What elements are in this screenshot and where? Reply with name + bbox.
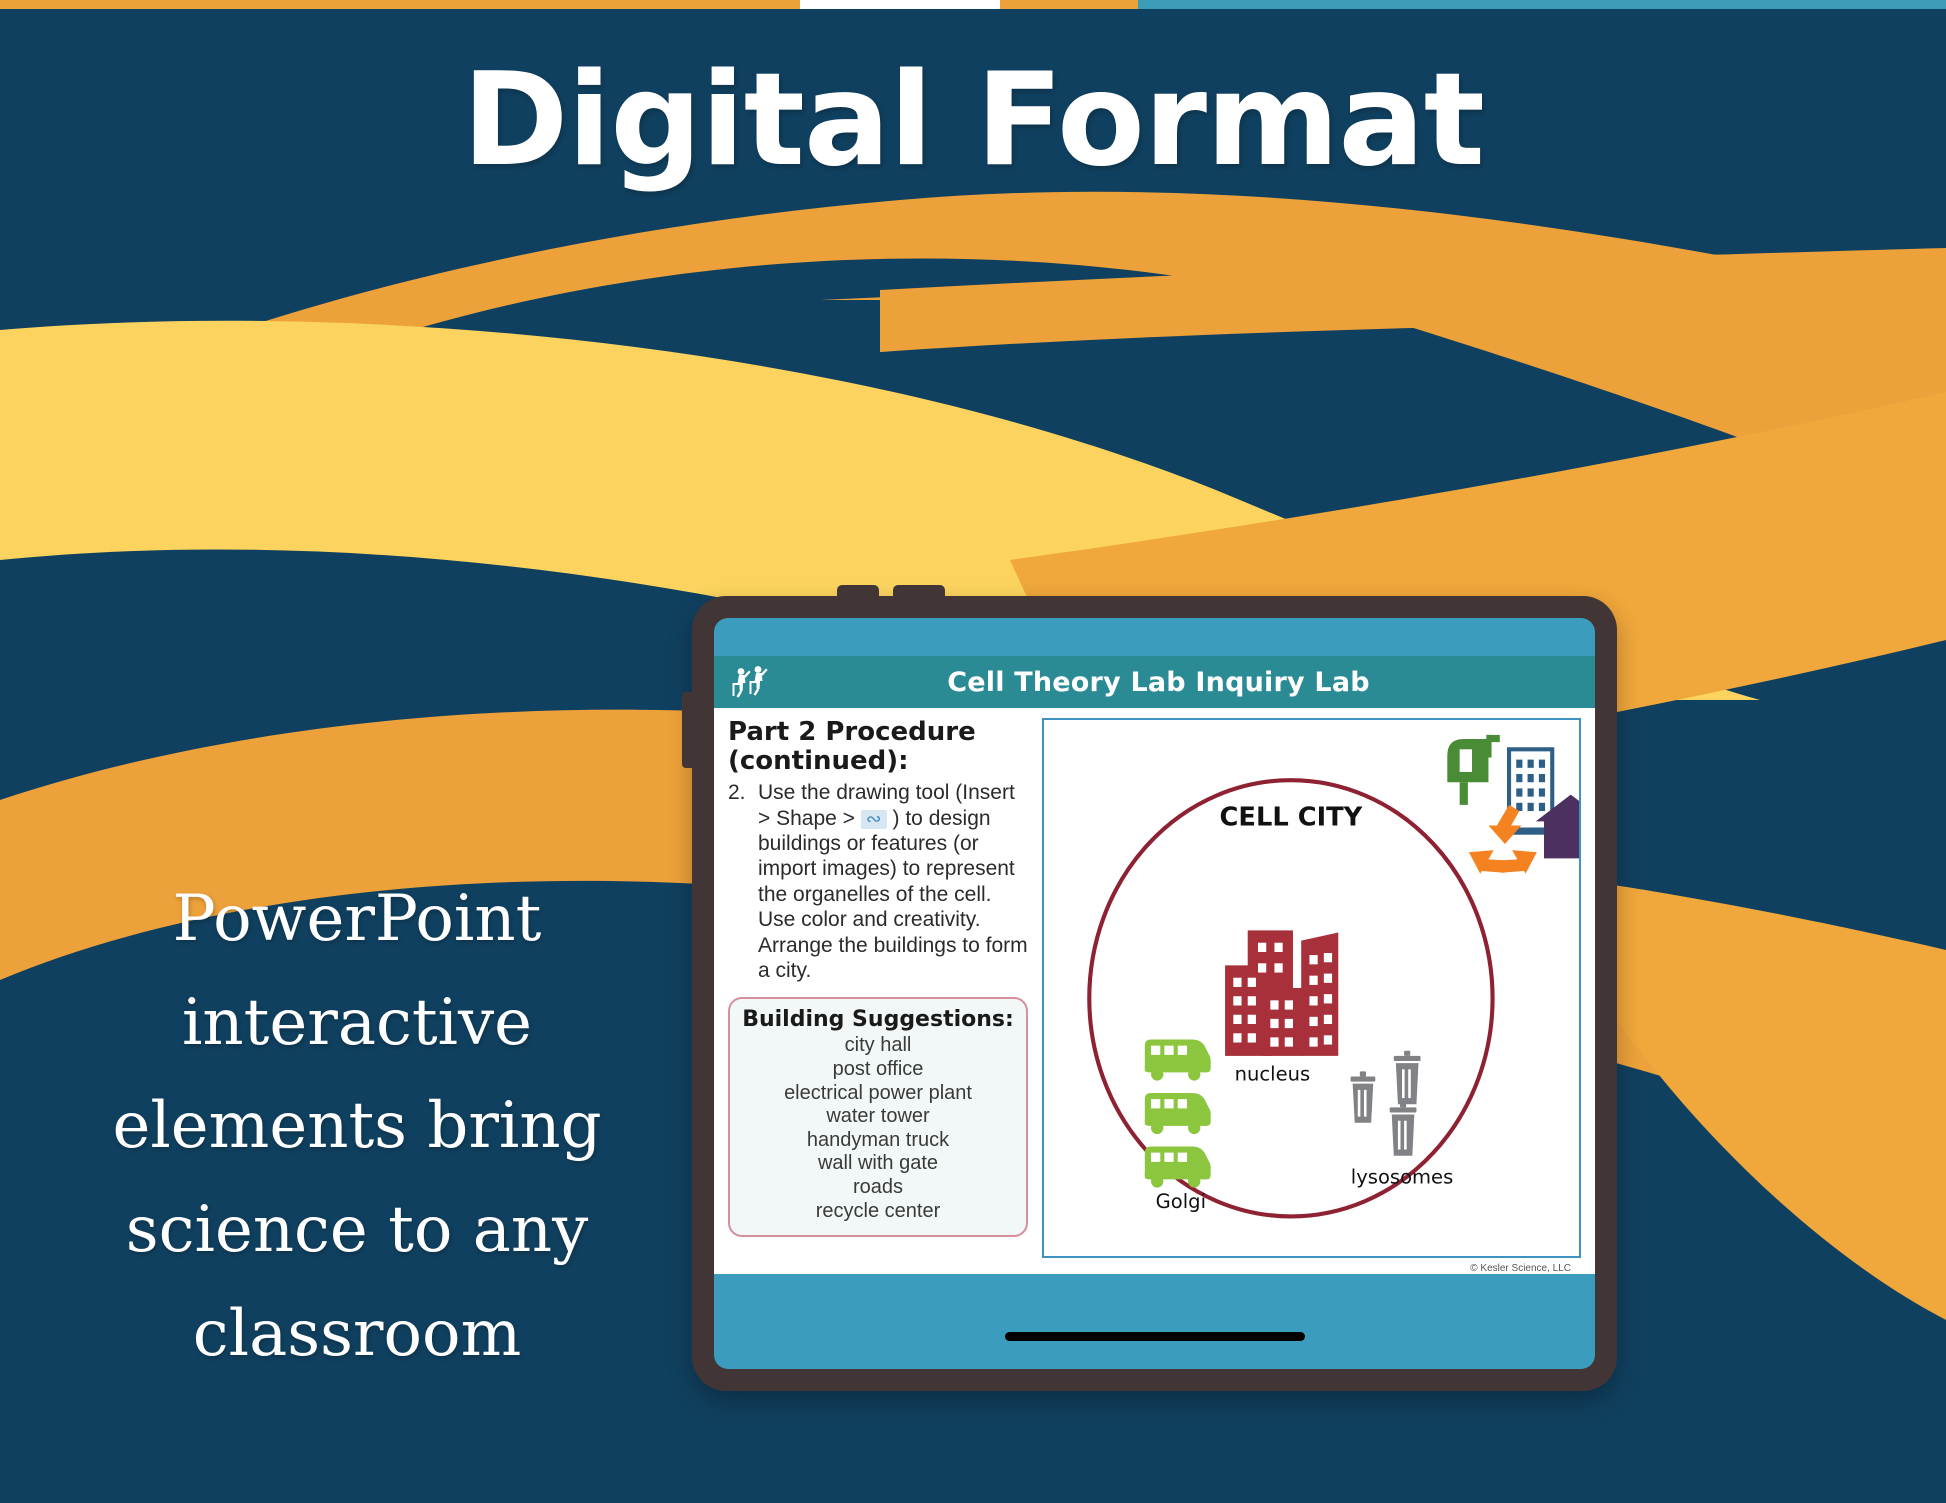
nucleus-label: nucleus — [1235, 1063, 1311, 1086]
tablet-top-buttons — [837, 585, 945, 599]
list-item: post office — [740, 1058, 1016, 1082]
cell-city-canvas: CELL CITY — [1044, 720, 1579, 1256]
lysosomes-label: lysosomes — [1351, 1165, 1453, 1188]
top-accent-strip — [0, 0, 1946, 9]
building-suggestions-title: Building Suggestions: — [740, 1007, 1016, 1032]
promo-caption: PowerPoint interactive elements bring sc… — [42, 868, 672, 1386]
list-item: roads — [740, 1176, 1016, 1200]
tablet-device: Cell Theory Lab Inquiry Lab Part 2 Proce… — [692, 596, 1617, 1391]
strip-segment-orange-left — [0, 0, 800, 9]
presentation-slide: Cell Theory Lab Inquiry Lab Part 2 Proce… — [714, 656, 1595, 1274]
screen-top-padding — [714, 618, 1595, 656]
page-title: Digital Format — [0, 46, 1946, 195]
strip-segment-teal — [1138, 0, 1946, 9]
list-item: water tower — [740, 1105, 1016, 1129]
bus-stack-icon — [1145, 1039, 1211, 1187]
tablet-screen: Cell Theory Lab Inquiry Lab Part 2 Proce… — [714, 618, 1595, 1369]
cell-city-diagram: CELL CITY — [1042, 718, 1581, 1258]
strip-segment-orange-right — [1000, 0, 1138, 9]
list-item: electrical power plant — [740, 1082, 1016, 1106]
procedure-text-after-chip: ) to design buildings or features (or im… — [758, 807, 1028, 982]
tablet-button-volume-down[interactable] — [893, 585, 945, 599]
list-item: city hall — [740, 1034, 1016, 1058]
trash-cans-icon — [1351, 1051, 1421, 1156]
procedure-item-number: 2. — [728, 780, 758, 983]
list-item: wall with gate — [740, 1152, 1016, 1176]
strip-segment-white — [800, 0, 1000, 9]
procedure-item: 2. Use the drawing tool (Insert > Shape … — [728, 780, 1028, 983]
procedure-heading: Part 2 Procedure (continued): — [728, 718, 1028, 776]
procedure-item-text: Use the drawing tool (Insert > Shape > ∾… — [758, 780, 1028, 983]
slide-header: Cell Theory Lab Inquiry Lab — [714, 656, 1595, 708]
home-indicator-bar[interactable] — [1005, 1332, 1305, 1341]
poster-canvas: Digital Format PowerPoint interactive el… — [0, 0, 1946, 1503]
mailbox-icon[interactable] — [1447, 735, 1499, 805]
list-item: handyman truck — [740, 1129, 1016, 1153]
slide-left-column: Part 2 Procedure (continued): 2. Use the… — [728, 718, 1028, 1274]
freeform-shape-icon[interactable]: ∾ — [861, 810, 887, 829]
golgi-label: Golgi — [1156, 1190, 1206, 1213]
slide-title: Cell Theory Lab Inquiry Lab — [776, 667, 1595, 698]
tablet-button-power[interactable] — [682, 692, 694, 768]
two-people-activity-icon — [714, 665, 776, 699]
building-suggestions-box: Building Suggestions: city hall post off… — [728, 997, 1028, 1237]
cell-city-label: CELL CITY — [1220, 802, 1363, 832]
copyright-text: © Kesler Science, LLC — [1470, 1263, 1571, 1274]
procedure-heading-line1: Part 2 Procedure — [728, 718, 1028, 747]
tablet-button-volume-up[interactable] — [837, 585, 879, 599]
list-item: recycle center — [740, 1200, 1016, 1224]
slide-body: Part 2 Procedure (continued): 2. Use the… — [714, 708, 1595, 1274]
procedure-heading-line2: (continued): — [728, 747, 1028, 776]
